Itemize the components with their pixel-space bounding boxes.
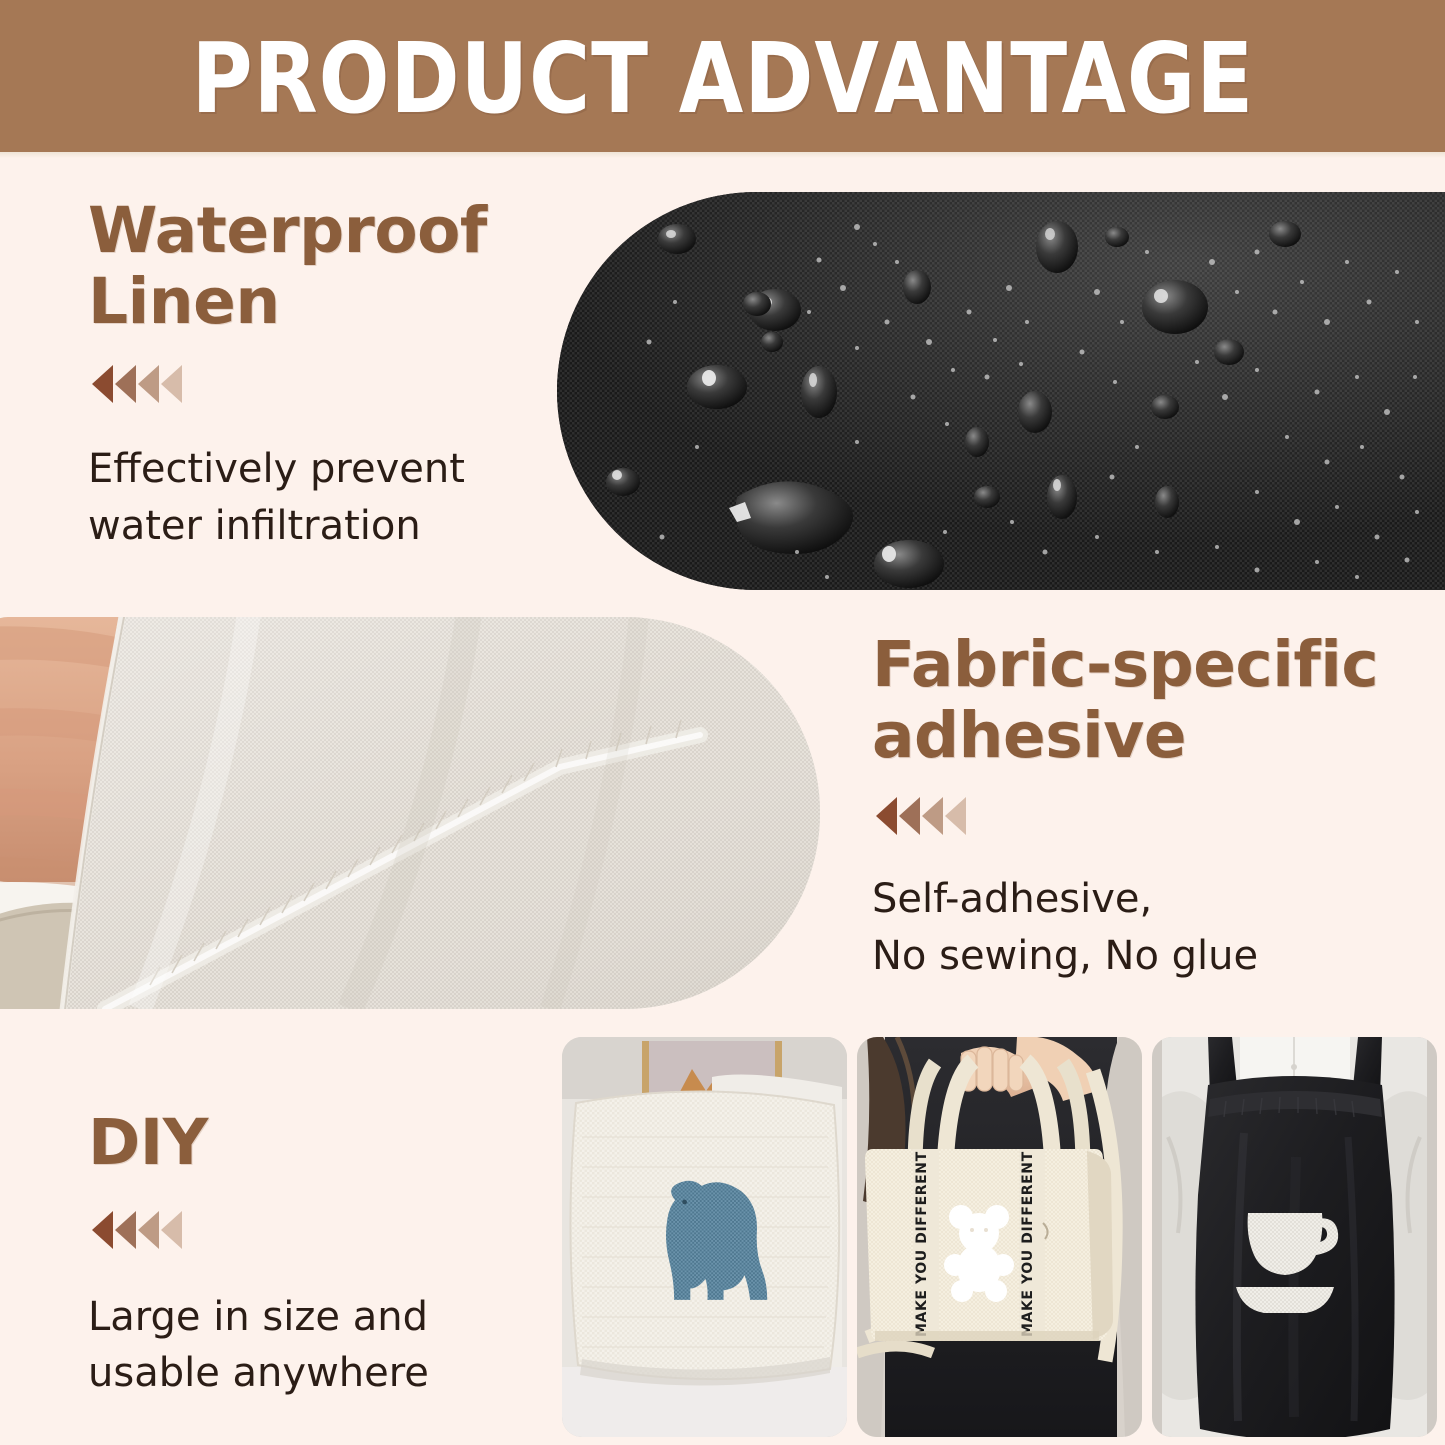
- feature-waterproof-body: Effectively prevent water infiltration: [88, 441, 518, 555]
- chevron-divider-adhesive: [876, 795, 1417, 837]
- chevron-left-icon-1: [876, 797, 897, 835]
- feature-waterproof-text: Waterproof Linen Effectively prevent wat…: [88, 196, 518, 555]
- feature-waterproof-body-line1: Effectively prevent: [88, 446, 465, 492]
- chevron-left-icon-1: [92, 1211, 113, 1249]
- throw-pillow-illustration: [562, 1037, 847, 1437]
- feature-diy-body: Large in size and usable anywhere: [88, 1289, 518, 1403]
- chevron-divider-diy: [92, 1209, 518, 1251]
- page-title: PRODUCT ADVANTAGE: [191, 30, 1254, 127]
- chevron-left-icon-4: [161, 365, 182, 403]
- feature-adhesive-heading-line1: Fabric-specific: [872, 628, 1378, 701]
- feature-diy-body-line1: Large in size and: [88, 1294, 428, 1340]
- chevron-left-icon-4: [945, 797, 966, 835]
- feature-adhesive-heading-line2: adhesive: [872, 699, 1186, 772]
- header-banner: PRODUCT ADVANTAGE: [0, 0, 1445, 152]
- feature-adhesive-heading: Fabric-specific adhesive: [872, 630, 1417, 771]
- chevron-left-icon-1: [92, 365, 113, 403]
- chevron-left-icon-3: [138, 365, 159, 403]
- waterproof-fabric-photo: [557, 192, 1445, 590]
- throw-pillow-photo: [562, 1037, 847, 1437]
- feature-diy-text: DIY Large in size and usable anywhere: [88, 1108, 518, 1402]
- black-apron-illustration: [1152, 1037, 1437, 1437]
- tote-strap-text-right: MAKE YOU DIFFERENT: [1020, 1151, 1036, 1337]
- feature-waterproof-heading: Waterproof Linen: [88, 196, 518, 337]
- chevron-divider-waterproof: [92, 363, 518, 405]
- chevron-left-icon-2: [115, 1211, 136, 1249]
- feature-adhesive-body-line1: Self-adhesive,: [872, 876, 1152, 922]
- linen-fabric-illustration: [0, 617, 820, 1009]
- chevron-left-icon-3: [922, 797, 943, 835]
- linen-fabric-in-hand-photo: [0, 617, 820, 1009]
- chevron-left-icon-4: [161, 1211, 182, 1249]
- feature-waterproof-body-line2: water infiltration: [88, 503, 421, 549]
- product-gallery: MAKE YOU DIFFERENT MAKE YOU DIFFERENT: [562, 1037, 1438, 1437]
- chevron-left-icon-2: [115, 365, 136, 403]
- tote-strap-text-left: MAKE YOU DIFFERENT: [914, 1151, 930, 1337]
- waterproof-fabric-illustration: [557, 192, 1445, 590]
- feature-waterproof-heading-line2: Linen: [88, 265, 280, 338]
- feature-adhesive-body-line2: No sewing, No glue: [872, 933, 1258, 979]
- product-advantage-infographic: PRODUCT ADVANTAGE Waterproof Linen Effec…: [0, 0, 1445, 1445]
- canvas-tote-bag-photo: MAKE YOU DIFFERENT MAKE YOU DIFFERENT: [857, 1037, 1142, 1437]
- feature-waterproof-heading-line1: Waterproof: [88, 194, 487, 267]
- feature-diy-heading: DIY: [88, 1108, 518, 1179]
- chevron-left-icon-3: [138, 1211, 159, 1249]
- feature-adhesive-body: Self-adhesive, No sewing, No glue: [872, 871, 1417, 985]
- black-apron-photo: [1152, 1037, 1437, 1437]
- banner-underline: [0, 152, 1445, 158]
- canvas-tote-bag-illustration: MAKE YOU DIFFERENT MAKE YOU DIFFERENT: [857, 1037, 1142, 1437]
- feature-diy-body-line2: usable anywhere: [88, 1350, 429, 1396]
- chevron-left-icon-2: [899, 797, 920, 835]
- feature-adhesive-text: Fabric-specific adhesive Self-adhesive, …: [872, 630, 1417, 985]
